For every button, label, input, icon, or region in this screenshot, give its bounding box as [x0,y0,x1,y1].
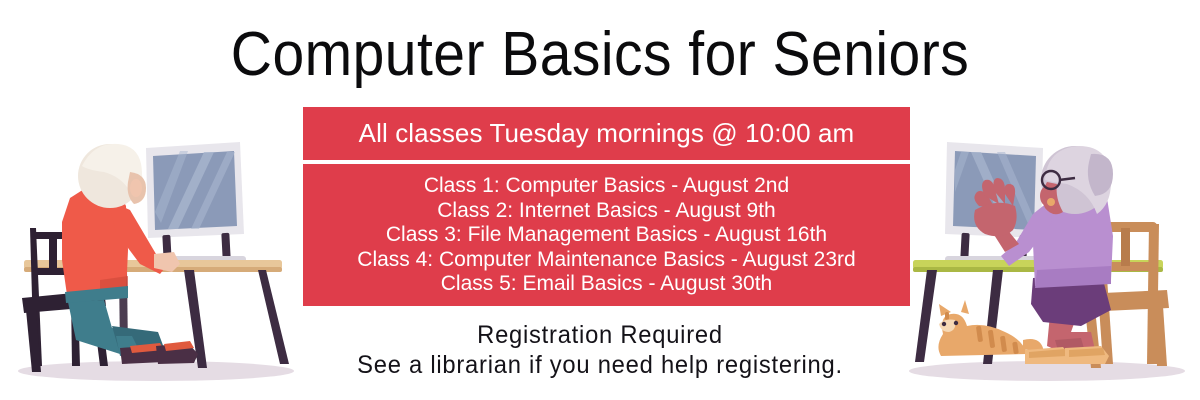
page-title: Computer Basics for Seniors [48,22,1152,88]
list-item: Class 1: Computer Basics - August 2nd [303,174,910,199]
banner-heading-text: All classes Tuesday mornings @ 10:00 am [303,116,910,150]
class-schedule-banner: All classes Tuesday mornings @ 10:00 am … [303,107,910,306]
banner-heading-bar: All classes Tuesday mornings @ 10:00 am [303,107,910,160]
registration-note: Registration Required See a librarian if… [30,320,1170,380]
registration-required-line: Registration Required [30,320,1170,350]
poster-canvas: Computer Basics for Seniors [0,0,1200,400]
librarian-help-line: See a librarian if you need help registe… [30,350,1170,380]
list-item: Class 3: File Management Basics - August… [303,223,910,248]
list-item: Class 4: Computer Maintenance Basics - A… [303,248,910,273]
class-list: Class 1: Computer Basics - August 2nd Cl… [303,164,910,306]
list-item: Class 2: Internet Basics - August 9th [303,199,910,224]
list-item: Class 5: Email Basics - August 30th [303,272,910,297]
